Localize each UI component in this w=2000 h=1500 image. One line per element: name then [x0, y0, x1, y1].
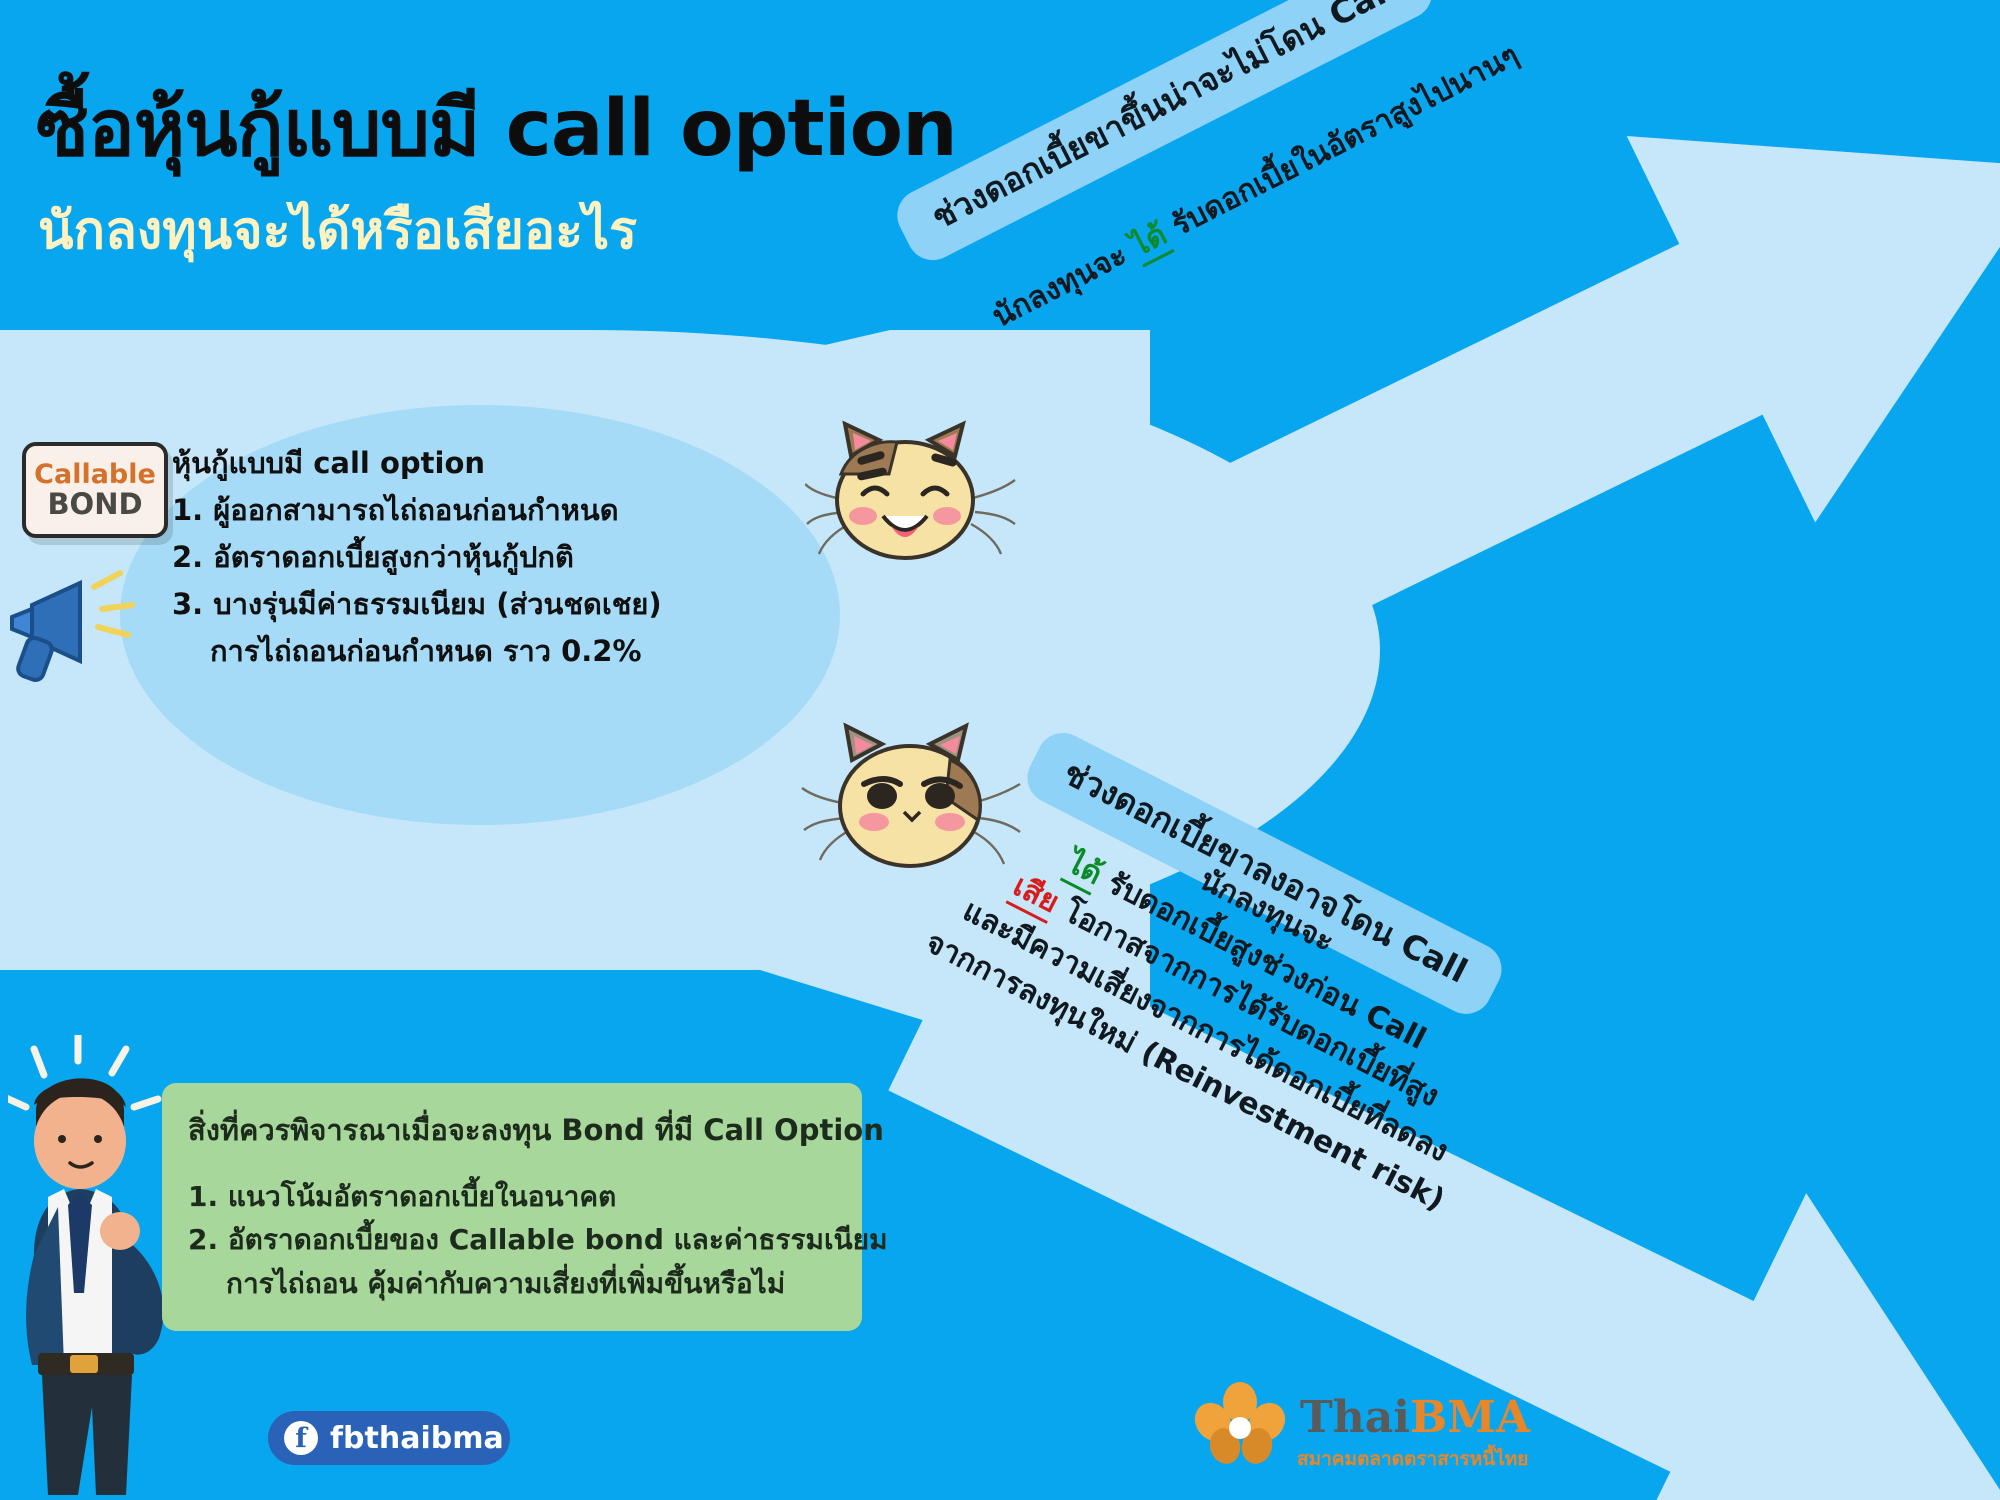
megaphone-icon	[2, 565, 172, 695]
thaibma-subtitle: สมาคมตลาดตราสารหนี้ไทย	[1297, 1444, 1528, 1474]
page-subtitle: นักลงทุนจะได้หรือเสียอะไร	[38, 188, 637, 271]
list-item: 2. อัตราดอกเบี้ยสูงกว่าหุ้นกู้ปกติ	[172, 534, 662, 581]
sad-cat-icon	[800, 710, 1025, 895]
happy-cat-icon	[805, 412, 1020, 587]
bond-features-list: หุ้นกู้แบบมี call option 1. ผู้ออกสามารถ…	[172, 440, 662, 675]
thaibma-wordmark: ThaiBMA	[1300, 1392, 1530, 1443]
thaibma-logo: ThaiBMA สมาคมตลาดตราสารหนี้ไทย	[1185, 1380, 1515, 1480]
facebook-link[interactable]: f fbthaibma	[268, 1411, 510, 1465]
considerations-item-continuation: การไถ่ถอน คุ้มค่ากับความเสี่ยงที่เพิ่มขึ…	[188, 1262, 836, 1305]
considerations-item: 1. แนวโน้มอัตราดอกเบี้ยในอนาคต	[188, 1175, 836, 1218]
facebook-icon: f	[284, 1421, 318, 1455]
considerations-panel: สิ่งที่ควรพิจารณาเมื่อจะลงทุน Bond ที่มี…	[162, 1083, 862, 1331]
badge-line-bond: BOND	[47, 489, 142, 519]
considerations-heading: สิ่งที่ควรพิจารณาเมื่อจะลงทุน Bond ที่มี…	[188, 1107, 836, 1153]
page-title: ซื้อหุ้นกู้แบบมี call option	[36, 66, 957, 190]
callable-bond-badge: Callable BOND	[22, 442, 168, 538]
badge-line-callable: Callable	[34, 461, 156, 489]
list-item: 1. ผู้ออกสามารถไถ่ถอนก่อนกำหนด	[172, 487, 662, 534]
list-item: 3. บางรุ่นมีค่าธรรมเนียม (ส่วนชดเชย)	[172, 581, 662, 628]
thaibma-flower-icon	[1185, 1380, 1295, 1470]
considerations-item: 2. อัตราดอกเบี้ยของ Callable bond และค่า…	[188, 1218, 836, 1261]
list-heading: หุ้นกู้แบบมี call option	[172, 440, 662, 487]
facebook-handle: fbthaibma	[330, 1421, 504, 1456]
list-item-continuation: การไถ่ถอนก่อนกำหนด ราว 0.2%	[172, 628, 662, 675]
infographic-canvas: ซื้อหุ้นกู้แบบมี call option นักลงทุนจะไ…	[0, 0, 2000, 1500]
